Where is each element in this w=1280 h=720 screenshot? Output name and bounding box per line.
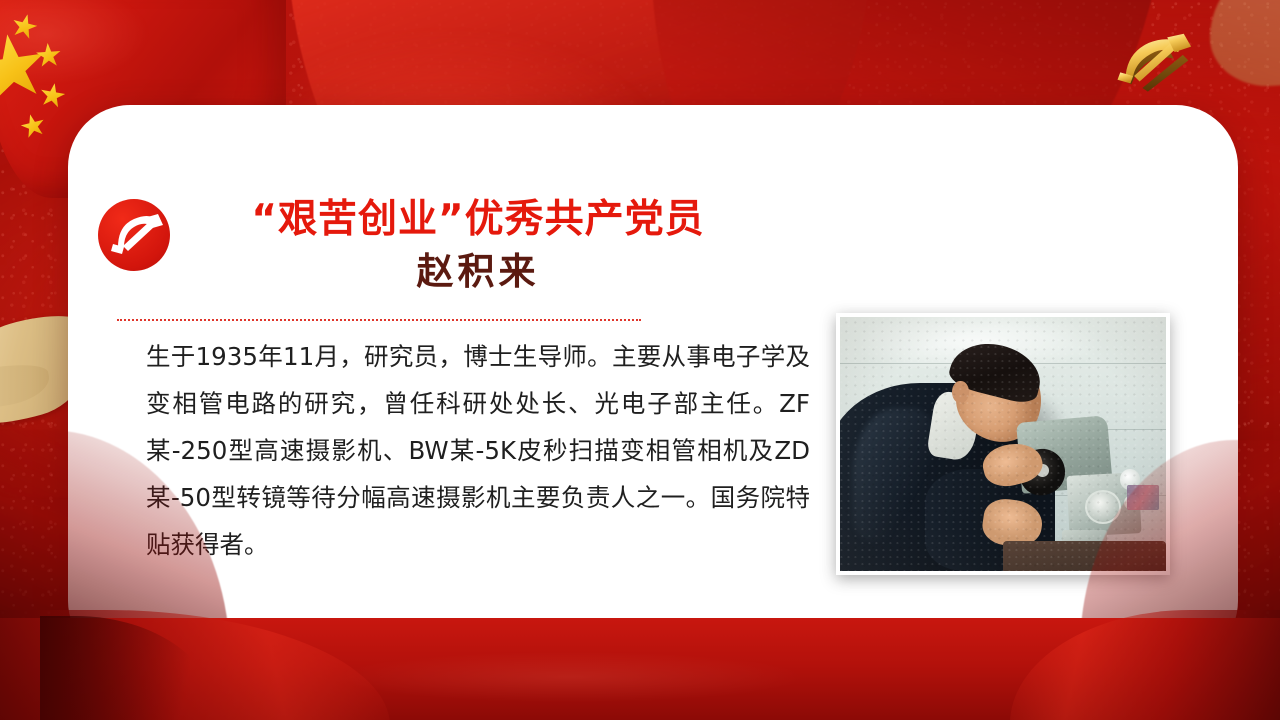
page-title: “艰苦创业”优秀共产党员 [178, 197, 778, 243]
photo-subject-ear [952, 381, 968, 404]
party-emblem-badge [98, 199, 170, 271]
slide-root: “艰苦创业”优秀共产党员 赵积来 生于1935年11月，研究员，博士生导师。主要… [0, 0, 1280, 720]
person-name: 赵积来 [178, 251, 778, 292]
hammer-and-sickle-emblem [1112, 28, 1204, 102]
title-block: “艰苦创业”优秀共产党员 赵积来 [178, 197, 778, 292]
bottom-band-fold-right [1010, 610, 1280, 720]
biography-paragraph: 生于1935年11月，研究员，博士生导师。主要从事电子学及变相管电路的研究，曾任… [146, 333, 810, 568]
content-card: “艰苦创业”优秀共产党员 赵积来 生于1935年11月，研究员，博士生导师。主要… [68, 105, 1238, 663]
dotted-divider [117, 319, 641, 321]
bottom-ribbon-band [0, 618, 1280, 720]
